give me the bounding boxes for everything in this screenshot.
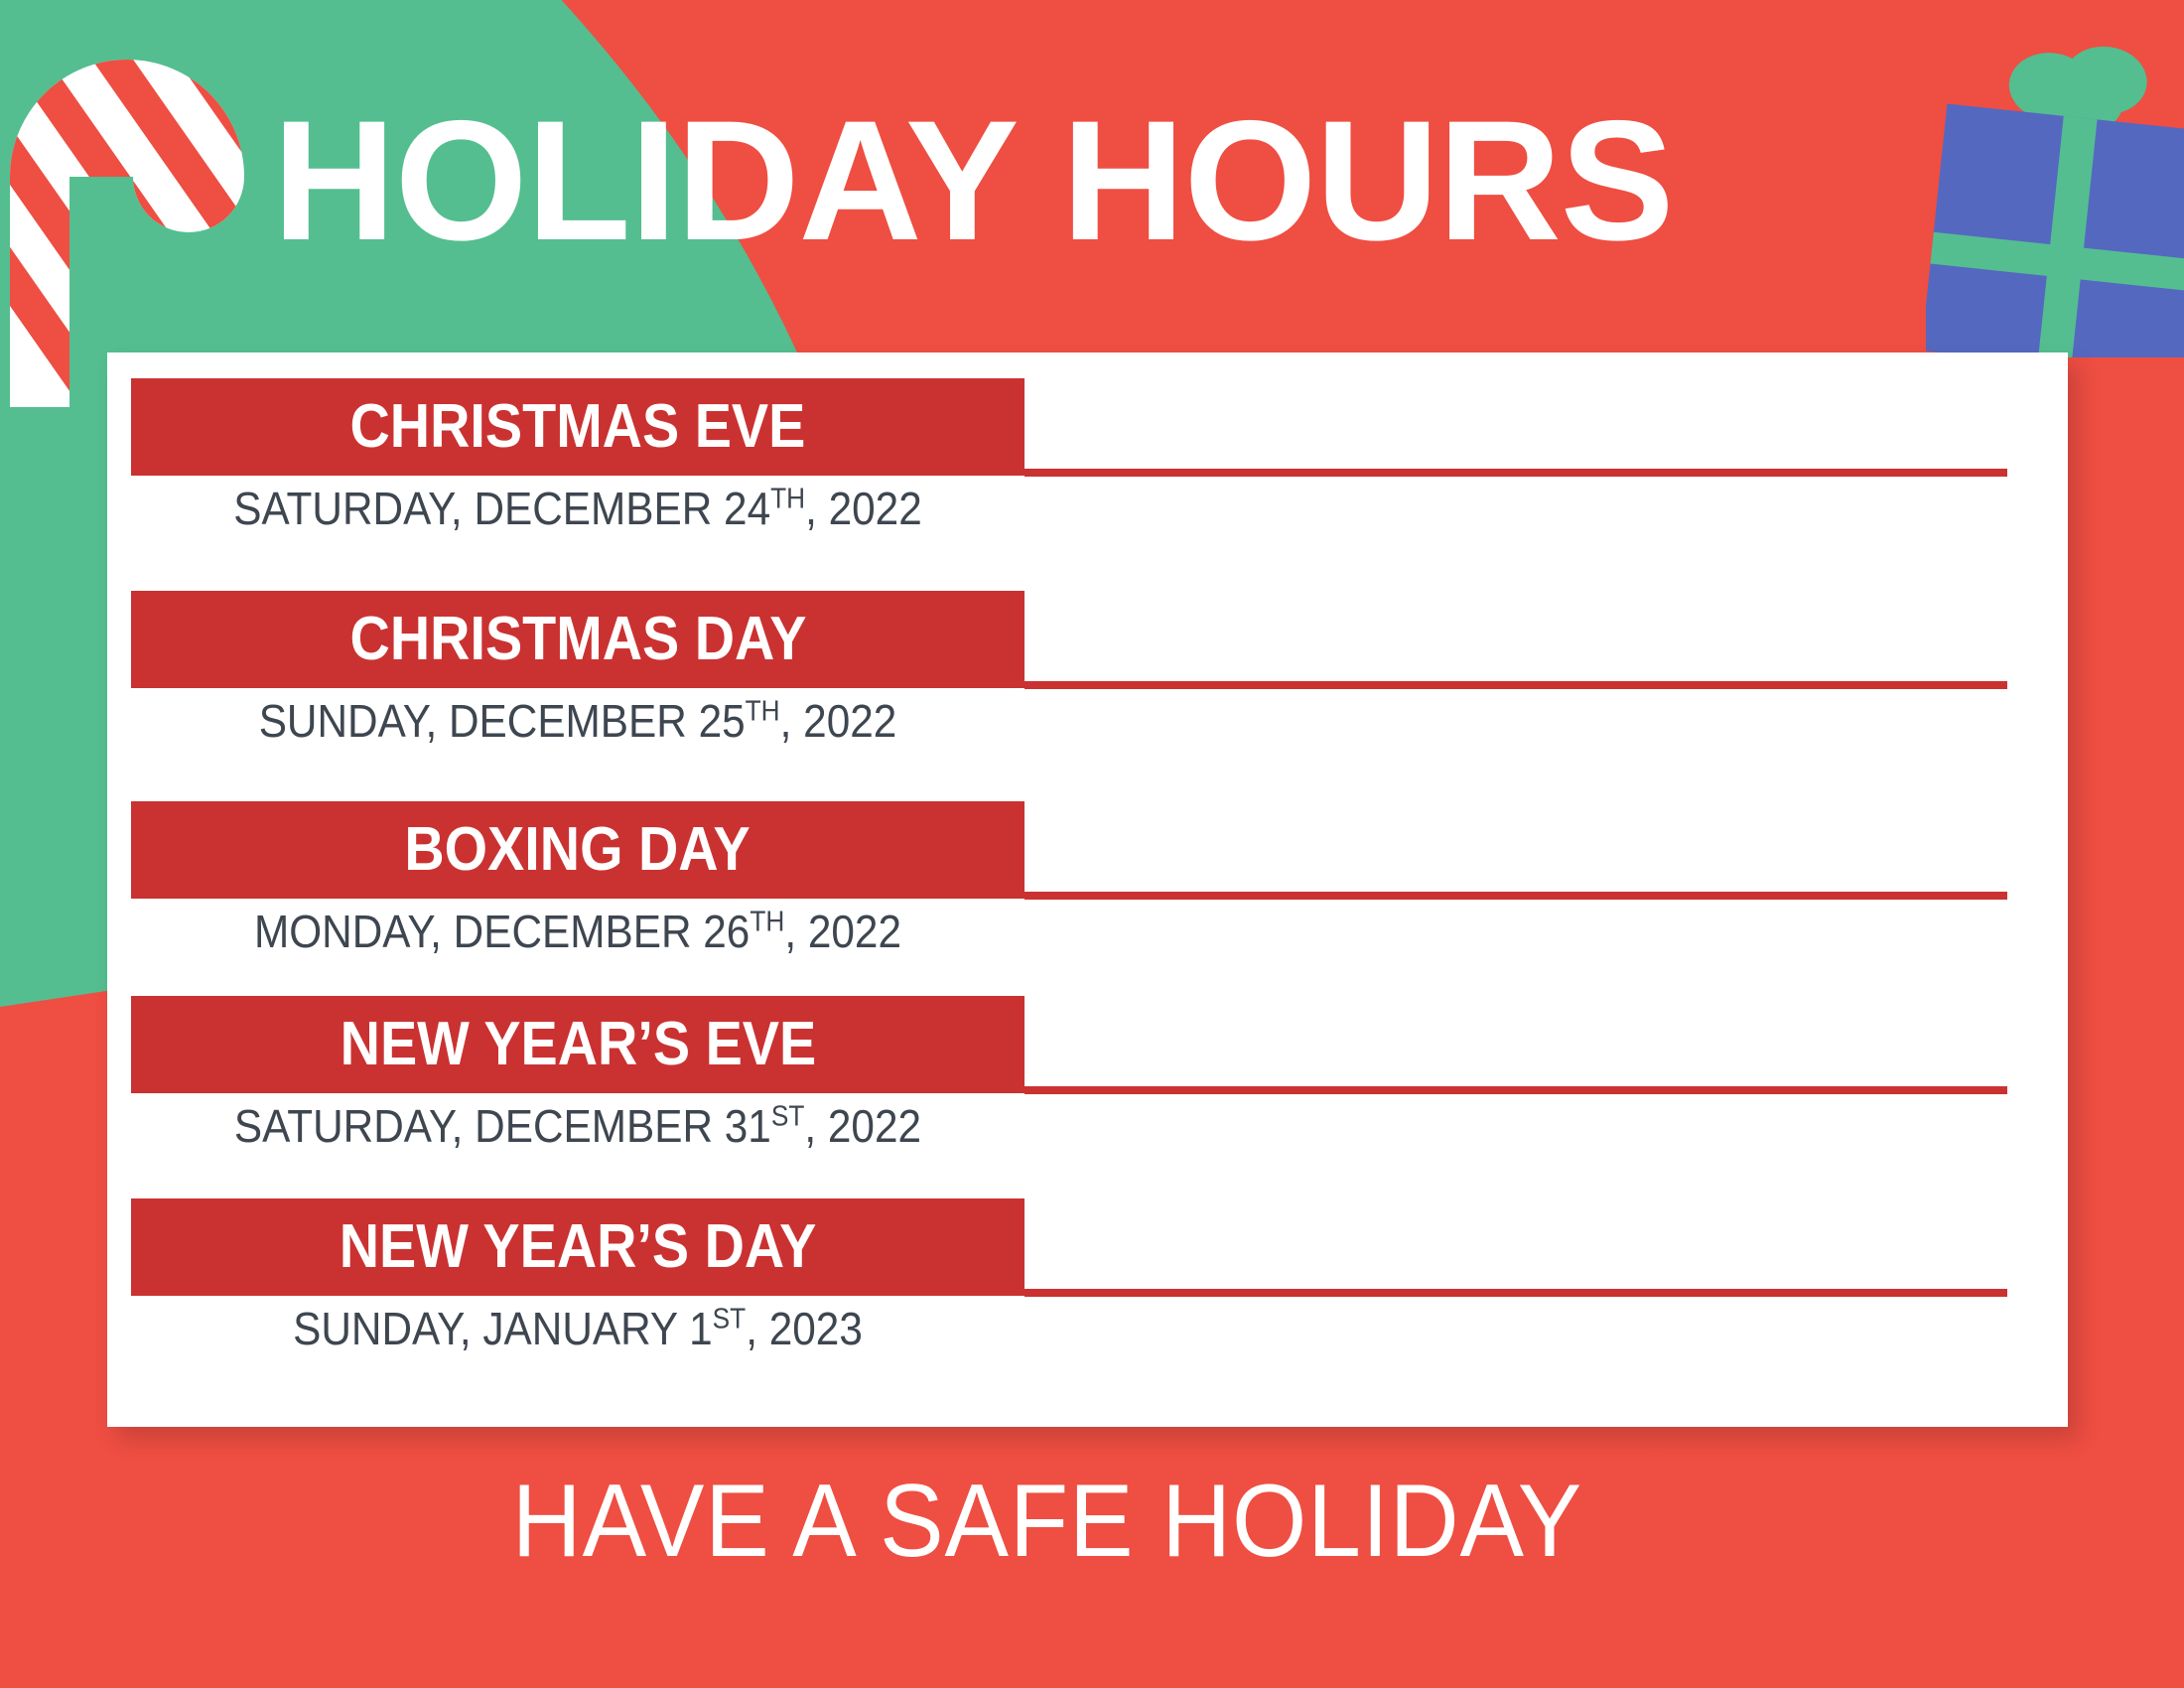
holiday-date-suffix: , 2022 <box>784 906 901 957</box>
holiday-date-ordinal: TH <box>750 907 784 938</box>
holiday-hours-rule <box>1024 681 2007 689</box>
holiday-hours-card: CHRISTMAS EVE SATURDAY, DECEMBER 24TH, 2… <box>107 352 2068 1427</box>
holiday-date-label: SUNDAY, JANUARY 1ST, 2023 <box>167 1302 989 1356</box>
holiday-date-label: SATURDAY, DECEMBER 24TH, 2022 <box>167 482 989 536</box>
holiday-name-chip: BOXING DAY <box>131 801 1024 899</box>
holiday-date-suffix: , 2022 <box>805 483 922 534</box>
holiday-date-label: SATURDAY, DECEMBER 31ST, 2022 <box>167 1099 989 1154</box>
holiday-date-ordinal: ST <box>713 1304 747 1336</box>
holiday-name-chip: NEW YEAR’S EVE <box>131 996 1024 1093</box>
holiday-hours-poster: HOLIDAY HOURS CHRISTMAS EVE SATURDAY, DE… <box>0 0 2184 1688</box>
holiday-hours-rule <box>1024 892 2007 900</box>
holiday-rows-list: CHRISTMAS EVE SATURDAY, DECEMBER 24TH, 2… <box>107 352 2068 1427</box>
holiday-date-prefix: SUNDAY, DECEMBER 25 <box>259 695 746 747</box>
gift-box-icon <box>1926 30 2184 357</box>
holiday-name-label: NEW YEAR’S EVE <box>340 1014 816 1075</box>
holiday-name-chip: CHRISTMAS DAY <box>131 591 1024 688</box>
holiday-name-chip: NEW YEAR’S DAY <box>131 1198 1024 1296</box>
holiday-date-label: MONDAY, DECEMBER 26TH, 2022 <box>167 905 989 959</box>
holiday-date-prefix: MONDAY, DECEMBER 26 <box>254 906 750 957</box>
holiday-hours-rule <box>1024 469 2007 477</box>
holiday-name-chip: CHRISTMAS EVE <box>131 378 1024 476</box>
holiday-name-label: CHRISTMAS DAY <box>349 609 806 670</box>
holiday-date-suffix: , 2022 <box>780 695 897 747</box>
holiday-date-suffix: , 2023 <box>746 1303 863 1354</box>
holiday-date-ordinal: ST <box>771 1101 805 1133</box>
holiday-name-label: NEW YEAR’S DAY <box>340 1216 817 1278</box>
holiday-date-suffix: , 2022 <box>804 1100 921 1152</box>
holiday-date-label: SUNDAY, DECEMBER 25TH, 2022 <box>167 694 989 749</box>
holiday-hours-rule <box>1024 1086 2007 1094</box>
holiday-name-label: CHRISTMAS EVE <box>350 396 806 458</box>
holiday-date-prefix: SUNDAY, JANUARY 1 <box>293 1303 713 1354</box>
holiday-date-prefix: SATURDAY, DECEMBER 24 <box>233 483 770 534</box>
holiday-date-ordinal: TH <box>746 696 780 728</box>
holiday-date-ordinal: TH <box>770 484 805 515</box>
page-title: HOLIDAY HOURS <box>0 95 1946 266</box>
holiday-date-prefix: SATURDAY, DECEMBER 31 <box>234 1100 771 1152</box>
footer-message: HAVE A SAFE HOLIDAY <box>73 1470 2021 1573</box>
holiday-name-label: BOXING DAY <box>405 819 751 881</box>
holiday-hours-rule <box>1024 1289 2007 1297</box>
